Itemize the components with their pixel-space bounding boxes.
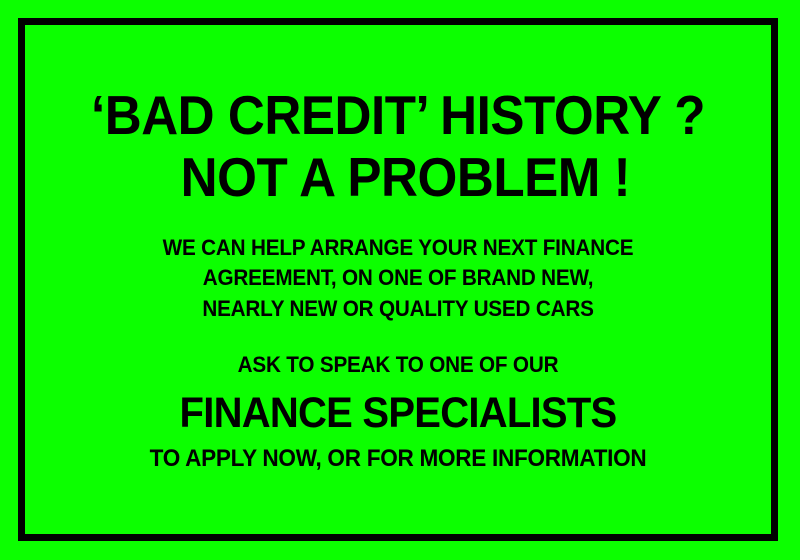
advert-poster: ‘BAD CREDIT’ HISTORY ? NOT A PROBLEM ! W… [0,0,800,560]
body-paragraph-block: WE CAN HELP ARRANGE YOUR NEXT FINANCE AG… [25,233,771,324]
body-line-3: NEARLY NEW OR QUALITY USED CARS [47,294,748,324]
headline-line-1: ‘BAD CREDIT’ HISTORY ? [51,87,745,143]
headline-line-2: NOT A PROBLEM ! [51,149,745,205]
body-line-1: WE CAN HELP ARRANGE YOUR NEXT FINANCE [47,233,748,263]
headline-block: ‘BAD CREDIT’ HISTORY ? NOT A PROBLEM ! [25,87,771,205]
call-to-action-block: ASK TO SPEAK TO ONE OF OUR FINANCE SPECI… [25,352,771,474]
cta-footer-text: TO APPLY NOW, OR FOR MORE INFORMATION [47,445,748,474]
body-line-2: AGREEMENT, ON ONE OF BRAND NEW, [47,263,748,293]
cta-headline-text: FINANCE SPECIALISTS [51,390,745,436]
cta-lead-text: ASK TO SPEAK TO ONE OF OUR [47,352,748,378]
poster-content: ‘BAD CREDIT’ HISTORY ? NOT A PROBLEM ! W… [25,25,771,534]
